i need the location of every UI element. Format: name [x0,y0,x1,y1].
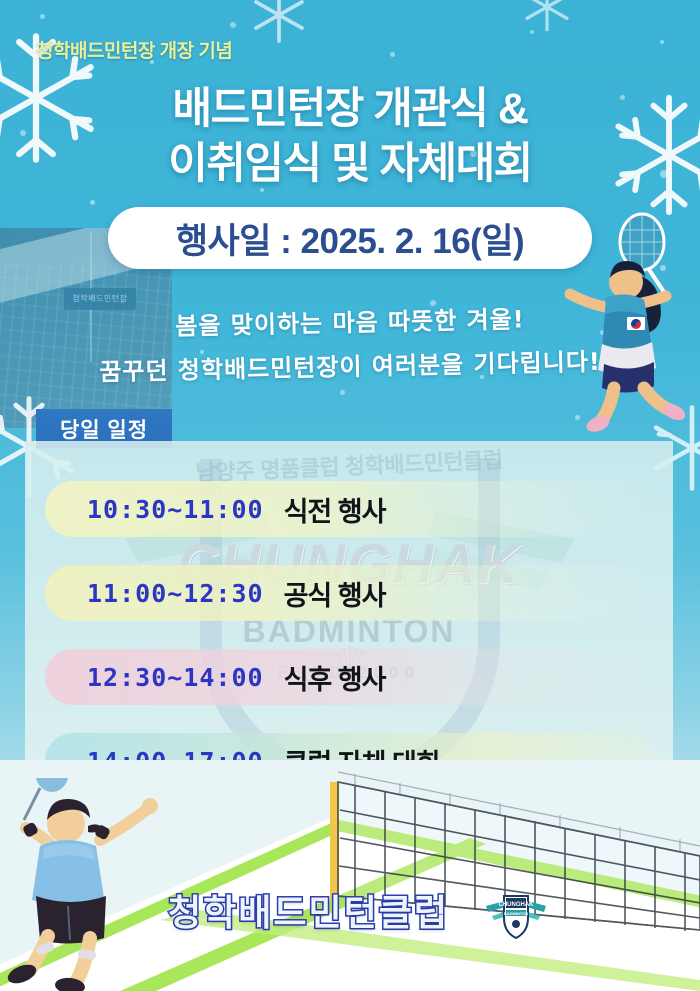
title-line-2: 이취임식 및 자체대회 [0,137,700,192]
schedule-time: 12:30~14:00 [87,663,264,692]
schedule-label: 공식 행사 [284,574,386,613]
schedule-row: 10:30~11:00 식전 행사 [45,481,653,537]
event-date-pill: 행사일 : 2025. 2. 16(일) [108,207,592,269]
male-badminton-player-illustration [0,778,176,991]
schedule-label: 식전 행사 [284,490,386,529]
schedule-row: 11:00~12:30 공식 행사 [45,565,653,621]
club-shield-logo: CHUNGHAK BADMINTON [484,886,548,942]
event-poster: 청학배드민턴장 [0,0,700,991]
bottom-club-name: 청학배드민턴클럽 [168,884,449,936]
female-badminton-player-illustration [560,212,700,432]
title-line-1: 배드민턴장 개관식 & [173,85,528,133]
schedule-panel: 남양주 명품클럽 청학배드민턴클럽 CHUNGHAK BADMINTON EST… [25,441,673,803]
schedule-time: 11:00~12:30 [87,579,264,608]
event-date-text: 행사일 : 2025. 2. 16(일) [176,213,524,264]
schedule-label: 식후 행사 [284,658,386,697]
svg-text:BADMINTON: BADMINTON [504,911,528,916]
schedule-time: 10:30~11:00 [87,495,264,524]
snowflake-icon [520,0,574,34]
schedule-banner-label: 당일 일정 [60,414,148,444]
poster-tagline: 청학배드민턴장 개장 기념 [36,36,232,63]
svg-text:CHUNGHAK: CHUNGHAK [499,902,535,908]
poster-title: 배드민턴장 개관식 & 이취임식 및 자체대회 [0,82,700,192]
schedule-row: 12:30~14:00 식후 행사 [45,649,653,705]
snowflake-icon [248,0,310,46]
